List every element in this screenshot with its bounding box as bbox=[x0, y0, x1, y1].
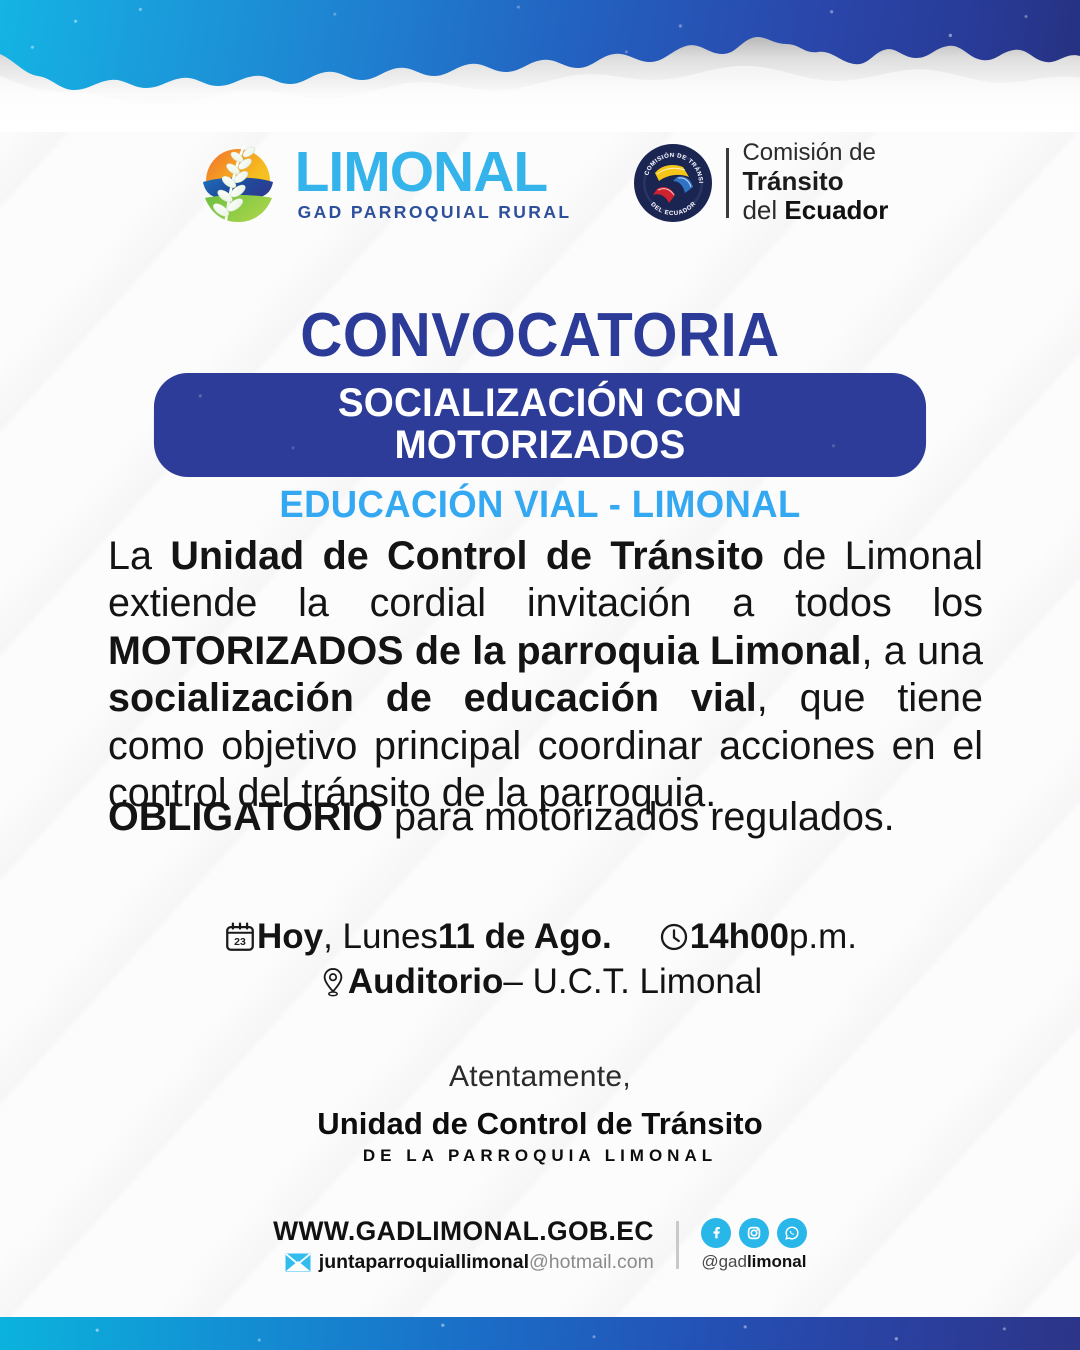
signoff-parish: DE LA PARROQUIA LIMONAL bbox=[0, 1146, 1080, 1166]
headline-pill-badge: SOCIALIZACIÓN CON MOTORIZADOS bbox=[154, 373, 926, 477]
cte-line-1: Comisión de bbox=[742, 140, 888, 167]
envelope-icon bbox=[285, 1253, 311, 1272]
limonal-logo: LIMONAL GAD PARROQUIAL RURAL bbox=[192, 140, 572, 226]
headline-subtitle: EDUCACIÓN VIAL - LIMONAL bbox=[22, 484, 1059, 527]
cte-line-3: del Ecuador bbox=[742, 196, 888, 225]
signoff-block: Atentamente, Unidad de Control de Tránsi… bbox=[0, 1060, 1080, 1166]
event-day-bold: Hoy bbox=[257, 915, 323, 960]
event-time-suffix: p.m. bbox=[789, 915, 857, 960]
calendar-day-number: 23 bbox=[234, 937, 246, 948]
page-title: CONVOCATORIA bbox=[32, 305, 1047, 367]
calendar-icon: 23 bbox=[223, 920, 257, 954]
event-venue-rest: – U.C.T. Limonal bbox=[503, 960, 762, 1005]
bottom-band-speckle-texture bbox=[0, 1317, 1080, 1350]
bottom-gradient-band bbox=[0, 1317, 1080, 1350]
cte-official-seal: COMISIÓN DE TRÁNSITO DEL ECUADOR bbox=[633, 143, 713, 223]
social-handle[interactable]: @gadlimonal bbox=[701, 1252, 807, 1272]
event-time-bold: 14h00 bbox=[690, 915, 789, 960]
footer-divider bbox=[676, 1221, 679, 1269]
event-details: 23 Hoy, Lunes 11 de Ago. 14h00 p.m. bbox=[0, 915, 1080, 1005]
event-venue-line: Auditorio – U.C.T. Limonal bbox=[0, 960, 1080, 1005]
cte-line-2: Tránsito bbox=[742, 167, 888, 196]
cte-divider bbox=[726, 148, 729, 218]
facebook-icon[interactable] bbox=[701, 1218, 731, 1248]
limonal-sunset-wheat-emblem bbox=[192, 140, 284, 226]
event-day-rest: , Lunes bbox=[323, 915, 438, 960]
invitation-text: La Unidad de Control de Tránsito de Limo… bbox=[108, 533, 983, 817]
event-date-time-line: 23 Hoy, Lunes 11 de Ago. 14h00 p.m. bbox=[0, 915, 1080, 960]
signoff-salutation: Atentamente, bbox=[0, 1060, 1080, 1094]
limonal-subtitle: GAD PARROQUIAL RURAL bbox=[295, 204, 572, 222]
limonal-wordmark: LIMONAL bbox=[295, 144, 572, 201]
location-pin-icon bbox=[318, 966, 348, 998]
cte-logo: COMISIÓN DE TRÁNSITO DEL ECUADOR Comisió… bbox=[633, 140, 888, 225]
event-venue-bold: Auditorio bbox=[348, 960, 504, 1005]
headline-block: CONVOCATORIA SOCIALIZACIÓN CON MOTORIZAD… bbox=[0, 305, 1080, 527]
clock-icon bbox=[658, 921, 690, 953]
whatsapp-icon[interactable] bbox=[777, 1218, 807, 1248]
signoff-unit-name: Unidad de Control de Tránsito bbox=[0, 1106, 1080, 1142]
headline-pill-label: SOCIALIZACIÓN CON MOTORIZADOS bbox=[194, 382, 885, 466]
logo-row: LIMONAL GAD PARROQUIAL RURAL COMIS bbox=[0, 140, 1080, 226]
poster-canvas: LIMONAL GAD PARROQUIAL RURAL COMIS bbox=[0, 0, 1080, 1350]
obligatory-notice: OBLIGATORIO para motorizados regulados. bbox=[108, 795, 983, 840]
instagram-icon[interactable] bbox=[739, 1218, 769, 1248]
footer-contact: WWW.GADLIMONAL.GOB.EC juntaparroquiallim… bbox=[0, 1216, 1080, 1274]
event-date-bold: 11 de Ago. bbox=[438, 915, 612, 960]
torn-paper-edge-top bbox=[0, 0, 1080, 132]
body-paragraph: La Unidad de Control de Tránsito de Limo… bbox=[108, 533, 983, 817]
website-url[interactable]: WWW.GADLIMONAL.GOB.EC bbox=[273, 1216, 654, 1247]
email-address[interactable]: juntaparroquiallimonal@hotmail.com bbox=[319, 1251, 654, 1274]
